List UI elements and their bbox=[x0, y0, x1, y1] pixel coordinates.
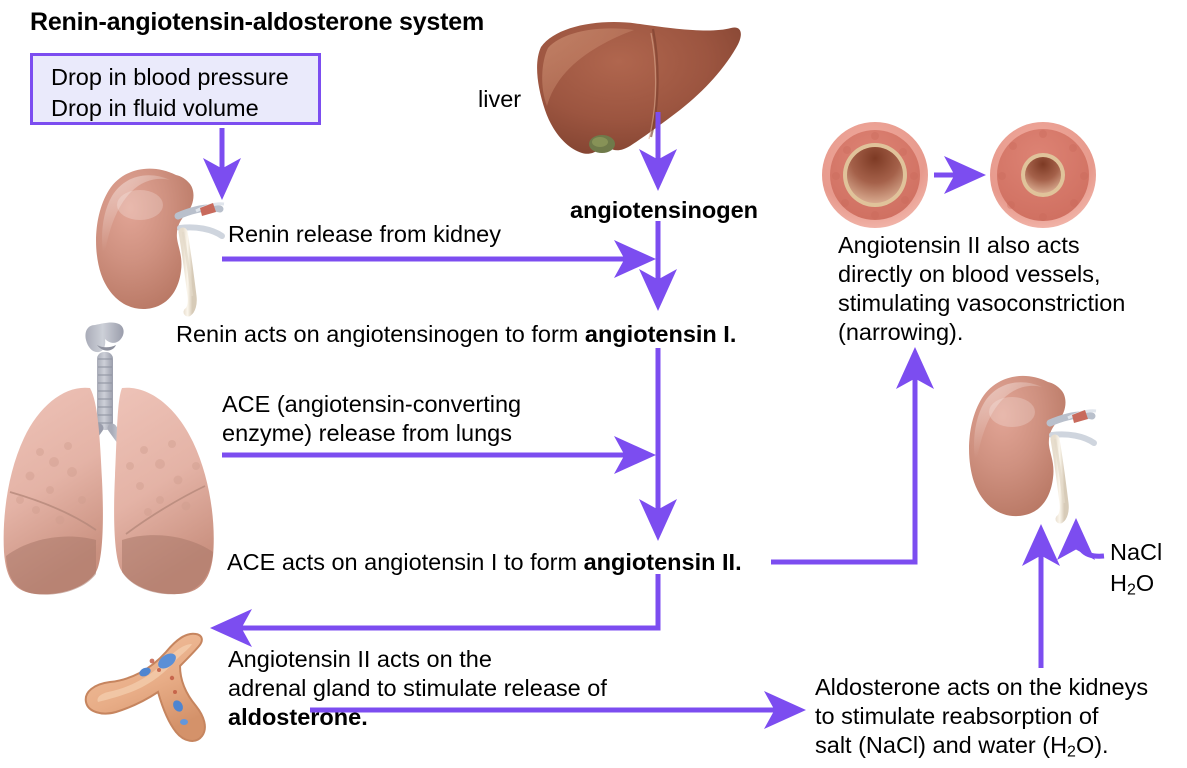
h2o-o: O bbox=[1136, 570, 1154, 596]
renin-acts-plain: Renin acts on angiotensinogen to form bbox=[176, 321, 585, 347]
trigger-box: Drop in blood pressure Drop in fluid vol… bbox=[30, 53, 321, 125]
aldosterone-line-1: Aldosterone acts on the kidneys bbox=[815, 674, 1148, 700]
renin-acts-text: Renin acts on angiotensinogen to form an… bbox=[176, 320, 736, 349]
adrenal-gland-illustration bbox=[86, 634, 205, 741]
nacl-label: NaCl bbox=[1110, 537, 1162, 568]
vasoconstriction-text: Angiotensin II also actsdirectly on bloo… bbox=[838, 231, 1125, 347]
diagram-canvas: Renin-angiotensin-aldosterone system Dro… bbox=[0, 0, 1187, 768]
vessel-line-1: Angiotensin II also acts bbox=[838, 232, 1080, 258]
ace-release-line-2: enzyme) release from lungs bbox=[222, 420, 512, 446]
lungs-illustration bbox=[4, 322, 214, 594]
h2o-subscript: 2 bbox=[1127, 582, 1136, 599]
ace-release-text: ACE (angiotensin-convertingenzyme) relea… bbox=[222, 390, 521, 448]
angiotensinogen-label: angiotensinogen bbox=[570, 197, 758, 224]
adrenal-gland-text: Angiotensin II acts on theadrenal gland … bbox=[228, 645, 607, 732]
aldosterone-line-3-b: O). bbox=[1076, 732, 1109, 758]
blood-vessel-cross-section-constricted bbox=[990, 122, 1096, 228]
trigger-line-2: Drop in fluid volume bbox=[51, 93, 318, 124]
arrow-angiotensin-ii-to-blood-vessels bbox=[771, 353, 915, 562]
arrow-angiotensin-ii-to-adrenal-gland bbox=[216, 574, 658, 628]
aldosterone-action-text: Aldosterone acts on the kidneysto stimul… bbox=[815, 673, 1148, 767]
page-title: Renin-angiotensin-aldosterone system bbox=[30, 8, 484, 37]
h2o-h: H bbox=[1110, 570, 1127, 596]
aldosterone-label: aldosterone. bbox=[228, 704, 368, 730]
aldosterone-line-3: salt (NaCl) and water (H2O). bbox=[815, 732, 1109, 758]
liver-illustration bbox=[537, 22, 741, 154]
aldosterone-line-2: to stimulate reabsorption of bbox=[815, 703, 1098, 729]
vessel-line-4: (narrowing). bbox=[838, 319, 963, 345]
renin-release-text: Renin release from kidney bbox=[228, 220, 501, 249]
vessel-line-2: directly on blood vessels, bbox=[838, 261, 1101, 287]
liver-label: liver bbox=[478, 85, 521, 114]
kidney-illustration-left bbox=[96, 169, 224, 312]
arrow-nacl-h2o-reabsorption bbox=[1076, 524, 1104, 556]
vessel-line-3: stimulating vasoconstriction bbox=[838, 290, 1125, 316]
aldosterone-line-3-a: salt (NaCl) and water (H bbox=[815, 732, 1067, 758]
ace-acts-text: ACE acts on angiotensin I to form angiot… bbox=[227, 548, 742, 577]
aldosterone-line-3-subscript: 2 bbox=[1067, 744, 1076, 761]
nacl-h2o-label: NaCl H2O bbox=[1110, 537, 1162, 606]
ace-acts-plain: ACE acts on angiotensin I to form bbox=[227, 549, 584, 575]
angiotensin-ii-label: angiotensin II. bbox=[584, 549, 742, 575]
blood-vessel-cross-section-dilated bbox=[822, 122, 928, 228]
trigger-line-1: Drop in blood pressure bbox=[51, 62, 318, 93]
h2o-label: H2O bbox=[1110, 568, 1162, 606]
kidney-illustration-right bbox=[969, 376, 1096, 519]
ace-release-line-1: ACE (angiotensin-converting bbox=[222, 391, 521, 417]
adrenal-line-2: adrenal gland to stimulate release of bbox=[228, 675, 607, 701]
adrenal-line-1: Angiotensin II acts on the bbox=[228, 646, 492, 672]
angiotensin-i-label: angiotensin I. bbox=[585, 321, 736, 347]
